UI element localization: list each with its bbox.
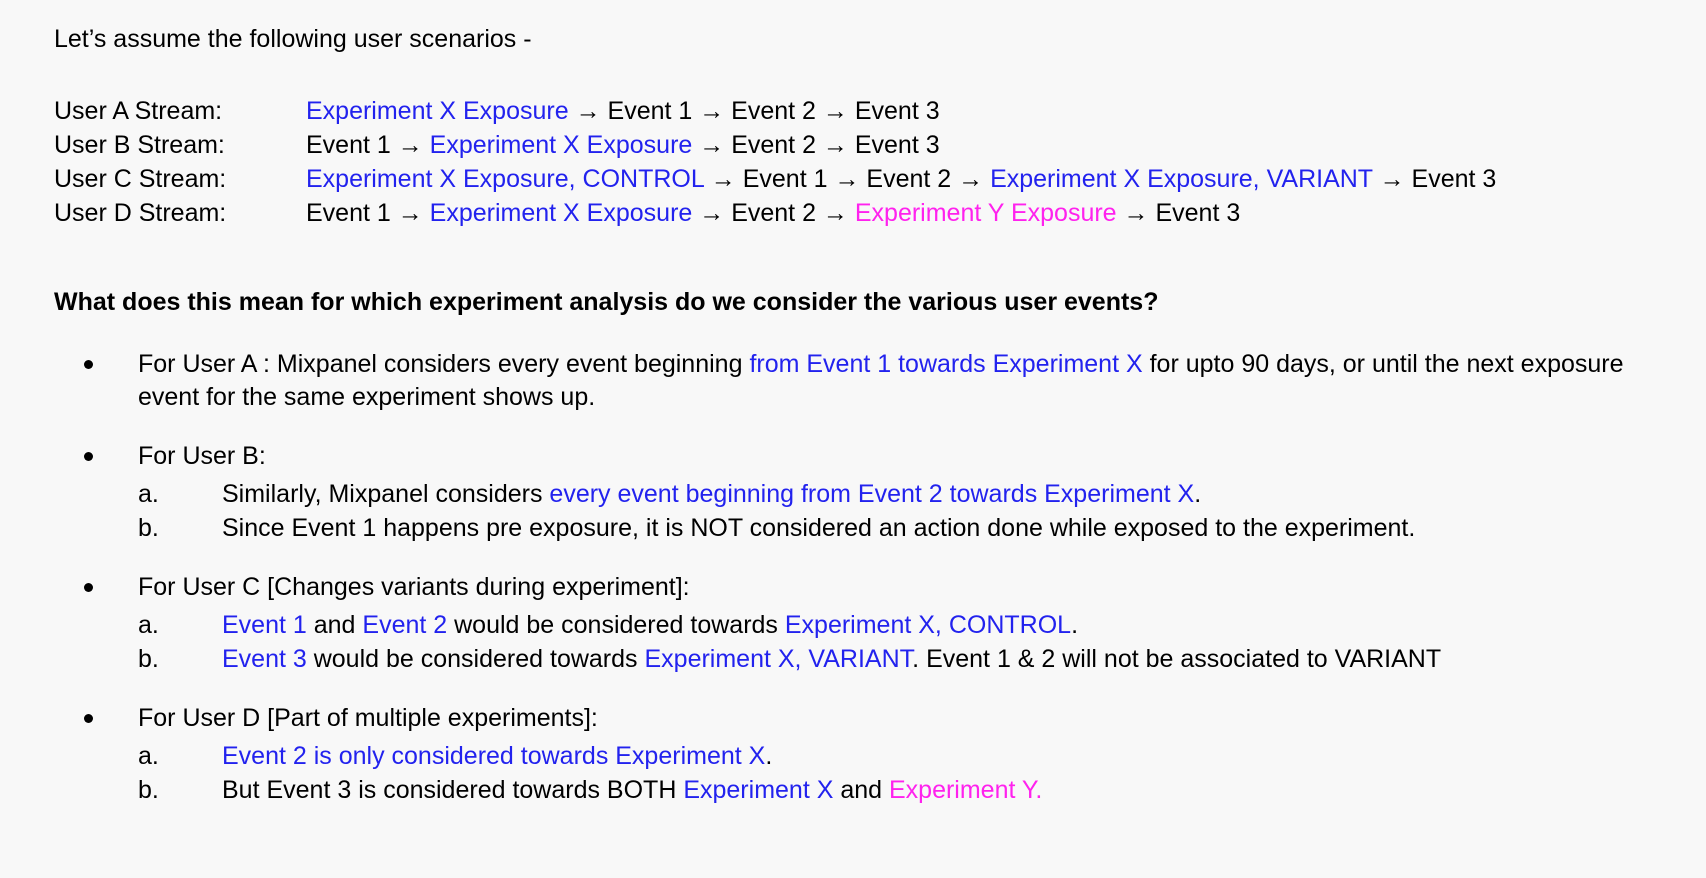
stream-1-segment-0: Event 1 → <box>306 131 430 159</box>
bullet-item: For User B:a.Similarly, Mixpanel conside… <box>0 440 1706 545</box>
stream-2-segment-0: Experiment X Exposure, CONTROL <box>306 165 704 193</box>
bullet-dot-icon <box>84 360 93 369</box>
sublist-marker: a. <box>138 477 184 511</box>
bullet-3-sub-1-segment-2: and <box>833 776 889 804</box>
bullet-2-sub-0-segment-0: Event 1 <box>222 611 307 639</box>
stream-3-segment-2: → Event 2 → <box>692 199 855 227</box>
stream-3-segment-0: Event 1 → <box>306 199 430 227</box>
bullet-dot-icon <box>84 452 93 461</box>
bullet-sublist: a.Event 1 and Event 2 would be considere… <box>138 608 1706 676</box>
stream-3-segment-3: Experiment Y Exposure <box>855 199 1117 227</box>
stream-0-segment-0: Experiment X Exposure <box>306 97 569 125</box>
bullet-dot-icon <box>84 714 93 723</box>
bullet-3-sub-0-segment-0: Event 2 is only considered towards Exper… <box>222 742 765 770</box>
sublist-marker: b. <box>138 773 184 807</box>
bullet-1-sub-1-segment-0: Since Event 1 happens pre exposure, it i… <box>222 514 1415 542</box>
document-page: Let’s assume the following user scenario… <box>0 0 1706 878</box>
bullet-1-segment-0: For User B: <box>138 442 266 470</box>
question-heading: What does this mean for which experiment… <box>54 286 1706 318</box>
bullet-2-sub-0-segment-2: Event 2 <box>362 611 447 639</box>
sublist-marker: a. <box>138 608 184 642</box>
stream-1-segment-1: Experiment X Exposure <box>430 131 693 159</box>
bullet-sublist: a.Event 2 is only considered towards Exp… <box>138 739 1706 807</box>
sublist-marker: a. <box>138 739 184 773</box>
sublist-text: But Event 3 is considered towards BOTH E… <box>222 776 1042 804</box>
bullet-item: For User A : Mixpanel considers every ev… <box>0 348 1706 414</box>
stream-3-segment-1: Experiment X Exposure <box>430 199 693 227</box>
stream-2-segment-3: → Event 3 <box>1373 165 1497 193</box>
bullet-text: For User A : Mixpanel considers every ev… <box>138 348 1628 414</box>
bullet-2-sub-0-segment-1: and <box>307 611 363 639</box>
bullet-3-sub-1-segment-0: But Event 3 is considered towards BOTH <box>222 776 683 804</box>
sublist-item: b.But Event 3 is considered towards BOTH… <box>138 773 1706 807</box>
bullet-2-segment-0: For User C [Changes variants during expe… <box>138 573 690 601</box>
bullet-2-sub-1-segment-2: Experiment X, VARIANT <box>644 645 912 673</box>
stream-3-segment-4: → Event 3 <box>1117 199 1241 227</box>
stream-sequence: Experiment X Exposure, CONTROL → Event 1… <box>306 162 1706 196</box>
bullet-2-sub-1-segment-3: . Event 1 & 2 will not be associated to … <box>912 645 1441 673</box>
bullet-sublist: a.Similarly, Mixpanel considers every ev… <box>138 477 1706 545</box>
sublist-item: a.Event 2 is only considered towards Exp… <box>138 739 1706 773</box>
bullet-2-sub-1-segment-0: Event 3 <box>222 645 307 673</box>
bullet-3-sub-1-segment-1: Experiment X <box>683 776 833 804</box>
bullet-text: For User B: <box>138 440 1628 473</box>
sublist-text: Event 3 would be considered towards Expe… <box>222 645 1441 673</box>
explanation-bullet-list: For User A : Mixpanel considers every ev… <box>0 348 1706 807</box>
bullet-3-sub-1-segment-3: Experiment Y. <box>889 776 1042 804</box>
sublist-marker: b. <box>138 642 184 676</box>
sublist-text: Similarly, Mixpanel considers every even… <box>222 480 1201 508</box>
bullet-3-sub-0-segment-1: . <box>765 742 772 770</box>
bullet-item: For User C [Changes variants during expe… <box>0 571 1706 676</box>
bullet-1-sub-0-segment-2: . <box>1194 480 1201 508</box>
user-streams-block: User A Stream:Experiment X Exposure → Ev… <box>54 94 1706 230</box>
sublist-marker: b. <box>138 511 184 545</box>
stream-label: User D Stream: <box>54 196 306 230</box>
bullet-3-segment-0: For User D [Part of multiple experiments… <box>138 704 598 732</box>
stream-2-segment-1: → Event 1 → Event 2 → <box>704 165 990 193</box>
sublist-text: Event 2 is only considered towards Exper… <box>222 742 772 770</box>
stream-row: User C Stream:Experiment X Exposure, CON… <box>54 162 1706 196</box>
stream-label: User B Stream: <box>54 128 306 162</box>
sublist-text: Event 1 and Event 2 would be considered … <box>222 611 1078 639</box>
sublist-item: a.Event 1 and Event 2 would be considere… <box>138 608 1706 642</box>
stream-1-segment-2: → Event 2 → Event 3 <box>692 131 939 159</box>
stream-label: User A Stream: <box>54 94 306 128</box>
stream-sequence: Event 1 → Experiment X Exposure → Event … <box>306 128 1706 162</box>
bullet-1-sub-0-segment-0: Similarly, Mixpanel considers <box>222 480 549 508</box>
bullet-item: For User D [Part of multiple experiments… <box>0 702 1706 807</box>
stream-0-segment-1: → Event 1 → Event 2 → Event 3 <box>569 97 940 125</box>
sublist-item: b.Event 3 would be considered towards Ex… <box>138 642 1706 676</box>
sublist-item: b.Since Event 1 happens pre exposure, it… <box>138 511 1706 545</box>
bullet-text: For User D [Part of multiple experiments… <box>138 702 1628 735</box>
stream-sequence: Event 1 → Experiment X Exposure → Event … <box>306 196 1706 230</box>
bullet-text: For User C [Changes variants during expe… <box>138 571 1628 604</box>
bullet-0-segment-0: For User A : Mixpanel considers every ev… <box>138 350 749 378</box>
intro-paragraph: Let’s assume the following user scenario… <box>54 22 1706 56</box>
bullet-1-sub-0-segment-1: every event beginning from Event 2 towar… <box>549 480 1194 508</box>
stream-row: User B Stream:Event 1 → Experiment X Exp… <box>54 128 1706 162</box>
bullet-2-sub-1-segment-1: would be considered towards <box>307 645 645 673</box>
stream-sequence: Experiment X Exposure → Event 1 → Event … <box>306 94 1706 128</box>
bullet-2-sub-0-segment-5: . <box>1071 611 1078 639</box>
sublist-text: Since Event 1 happens pre exposure, it i… <box>222 514 1415 542</box>
sublist-item: a.Similarly, Mixpanel considers every ev… <box>138 477 1706 511</box>
bullet-dot-icon <box>84 583 93 592</box>
stream-row: User A Stream:Experiment X Exposure → Ev… <box>54 94 1706 128</box>
stream-label: User C Stream: <box>54 162 306 196</box>
stream-2-segment-2: Experiment X Exposure, VARIANT <box>990 165 1373 193</box>
bullet-2-sub-0-segment-3: would be considered towards <box>447 611 785 639</box>
bullet-0-segment-1: from Event 1 towards Experiment X <box>749 350 1142 378</box>
bullet-2-sub-0-segment-4: Experiment X, CONTROL <box>785 611 1071 639</box>
stream-row: User D Stream:Event 1 → Experiment X Exp… <box>54 196 1706 230</box>
